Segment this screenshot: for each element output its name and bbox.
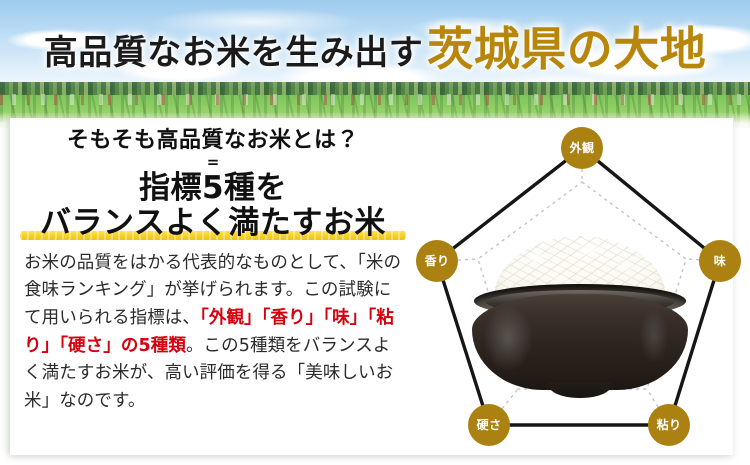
text-column: そもそも高品質なお米とは？ = 指標5種を バランスよく満たすお米 お米の品質を… xyxy=(18,124,408,415)
node-stickiness[interactable]: 粘り xyxy=(648,404,690,446)
body-paragraph: お米の品質をはかる代表的なものとして、「米の食味ランキング」が挙げられます。この… xyxy=(24,250,404,416)
village-houses-decoration xyxy=(0,94,750,105)
five-indicator-pentagon-diagram: 外観 味 粘り 硬さ 香り xyxy=(410,118,750,455)
node-aroma-label: 香り xyxy=(424,253,450,268)
node-hardness[interactable]: 硬さ xyxy=(468,404,510,446)
lead-question: そもそも高品質なお米とは？ xyxy=(18,129,408,153)
hero-title-primary: 高品質なお米を生み出す xyxy=(44,25,424,74)
equals-symbol: = xyxy=(18,155,408,170)
content-card: そもそも高品質なお米とは？ = 指標5種を バランスよく満たすお米 お米の品質を… xyxy=(10,118,733,455)
lead-answer-line2: バランスよく満たすお米 xyxy=(40,205,386,241)
node-appearance[interactable]: 外観 xyxy=(561,127,603,169)
poster-root: 高品質なお米を生み出す 茨城県の大地 そもそも高品質なお米とは？ = 指標5種を… xyxy=(0,0,750,465)
hero-title-accent: 茨城県の大地 xyxy=(427,26,706,72)
node-appearance-label: 外観 xyxy=(569,140,595,155)
node-aroma[interactable]: 香り xyxy=(416,240,458,282)
lead-answer-line1: 指標5種を xyxy=(18,171,408,206)
node-hardness-label: 硬さ xyxy=(477,418,502,432)
lead-answer-line2-wrapper: バランスよく満たすお米 xyxy=(18,206,408,241)
node-taste-label: 味 xyxy=(714,253,726,268)
node-taste[interactable]: 味 xyxy=(699,240,741,282)
node-stickiness-label: 粘り xyxy=(657,417,682,432)
pentagon-nodes-svg: 外観 味 粘り 硬さ 香り xyxy=(410,118,750,455)
hero-title: 高品質なお米を生み出す 茨城県の大地 xyxy=(0,14,750,84)
